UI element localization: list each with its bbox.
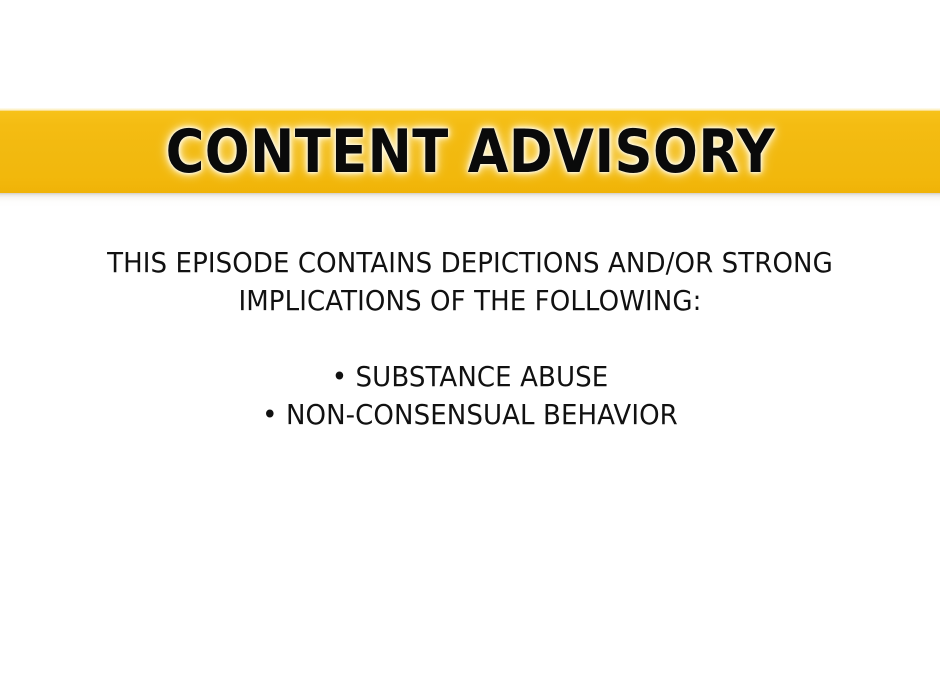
title-banner: CONTENT ADVISORY [0, 108, 940, 207]
banner-bar: CONTENT ADVISORY [0, 111, 940, 193]
list-item: • NON-CONSENSUAL BEHAVIOR [33, 396, 907, 434]
blank-line [33, 320, 907, 358]
page-title: CONTENT ADVISORY [165, 122, 775, 182]
advisory-intro: THIS EPISODE CONTAINS DEPICTIONS AND/OR … [33, 244, 907, 358]
advisory-bullet-list: • SUBSTANCE ABUSE • NON-CONSENSUAL BEHAV… [33, 358, 907, 434]
advisory-intro-line-1: THIS EPISODE CONTAINS DEPICTIONS AND/OR … [33, 244, 907, 282]
list-item: • SUBSTANCE ABUSE [33, 358, 907, 396]
advisory-intro-line-2: IMPLICATIONS OF THE FOLLOWING: [33, 282, 907, 320]
advisory-body: THIS EPISODE CONTAINS DEPICTIONS AND/OR … [0, 244, 940, 434]
banner-drop-shadow [0, 193, 940, 207]
content-advisory-slide: CONTENT ADVISORY THIS EPISODE CONTAINS D… [0, 0, 940, 700]
